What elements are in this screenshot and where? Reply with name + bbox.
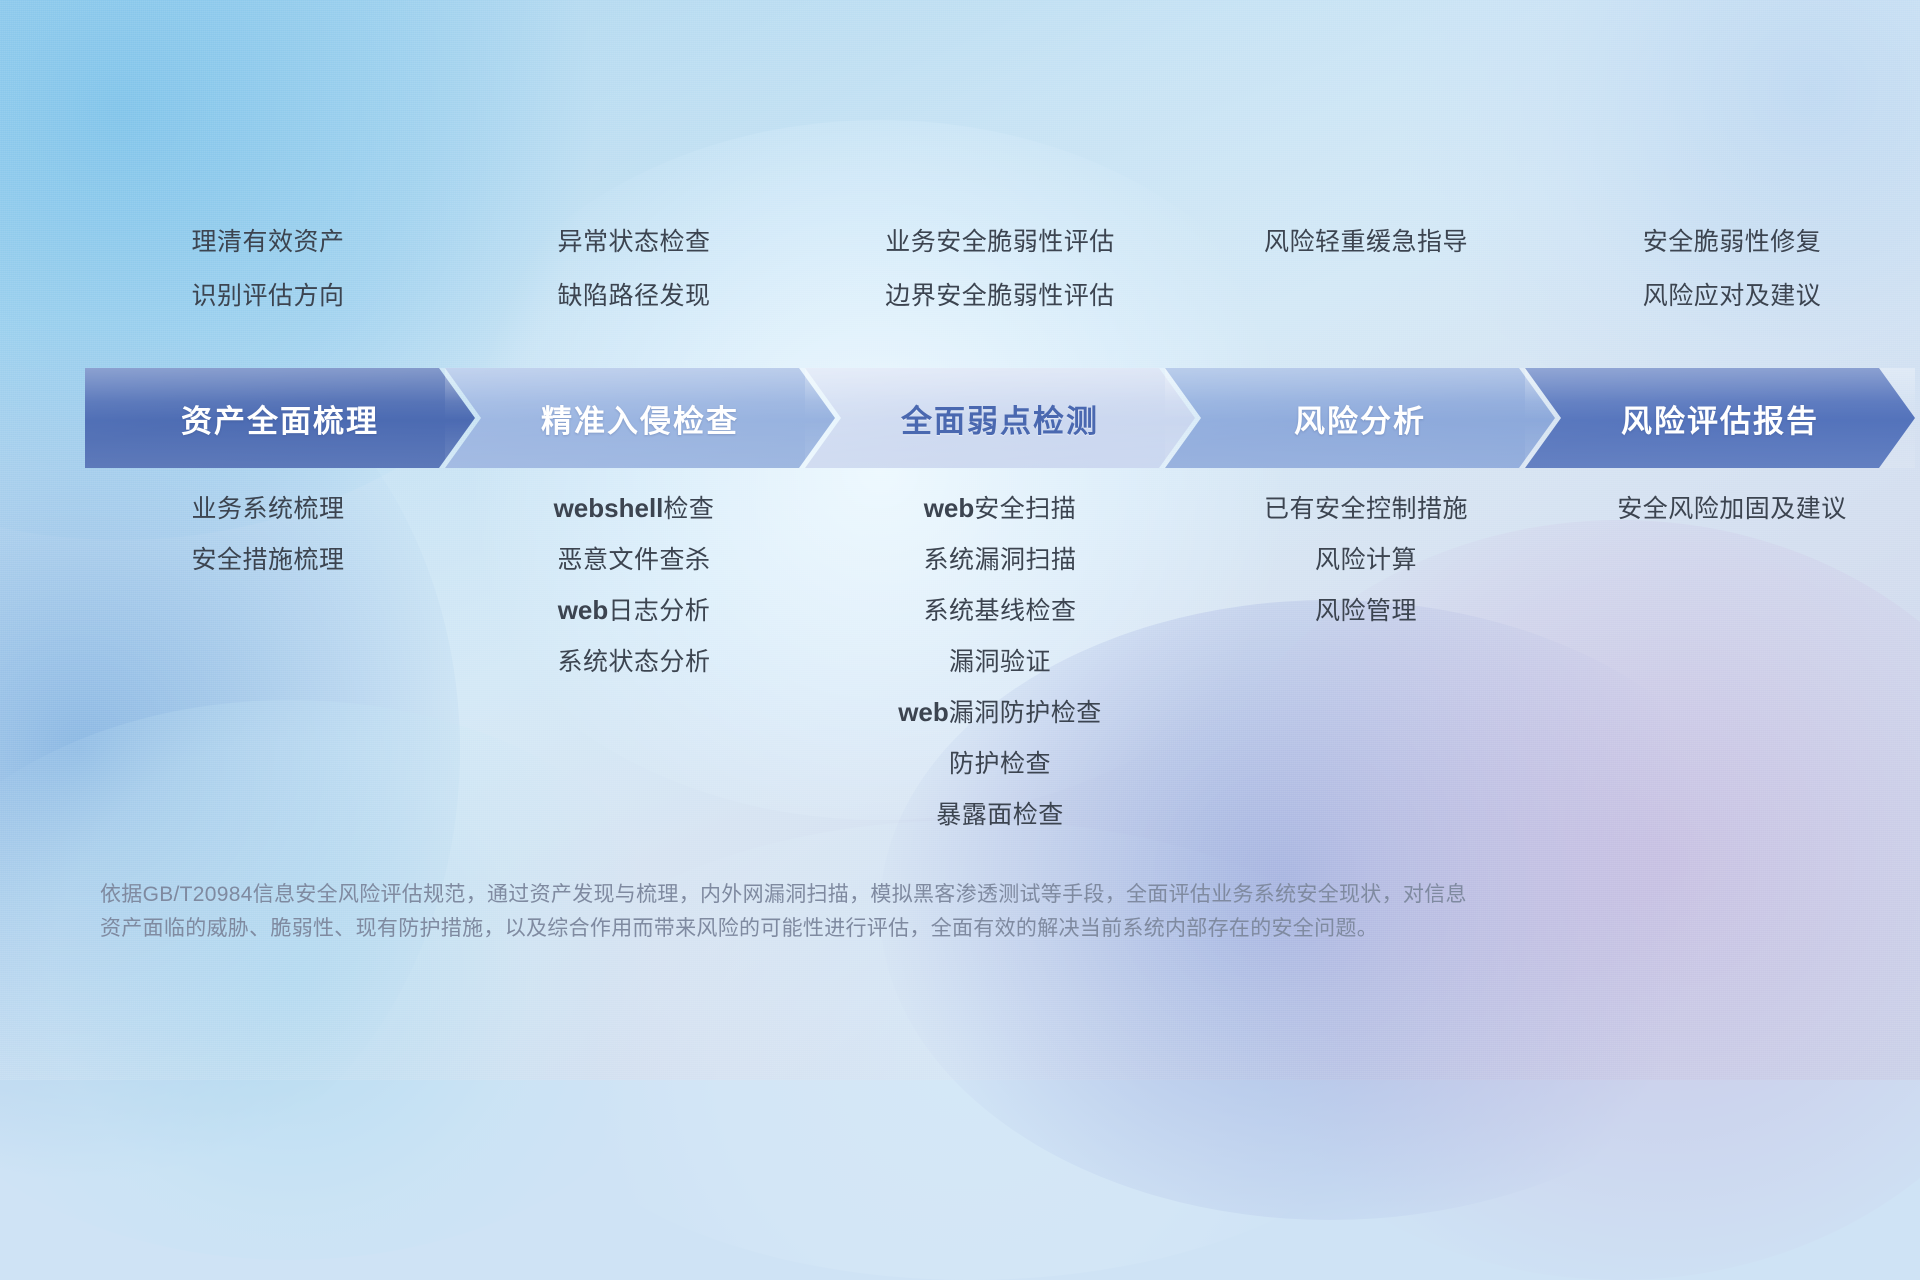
task-text: 漏洞防护检查 — [949, 699, 1102, 727]
output-label: 业务安全脆弱性评估 — [885, 230, 1115, 255]
task-text: 系统漏洞扫描 — [923, 546, 1076, 574]
chevron-stage-intrusion-check[interactable]: 精准入侵检查 — [445, 368, 835, 468]
task-item: 暴露面检查 — [936, 801, 1064, 828]
stage-tasks-asset-inventory: 业务系统梳理 安全措施梳理 — [85, 495, 451, 852]
chevron-label: 资产全面梳理 — [181, 396, 379, 441]
stage-outputs-intrusion-check: 异常状态检查 缺陷路径发现 — [451, 230, 817, 338]
task-text: 漏洞验证 — [949, 648, 1051, 676]
task-latin: web — [924, 493, 975, 523]
task-text: 恶意文件查杀 — [557, 546, 710, 574]
task-latin: webshell — [554, 493, 664, 523]
chevron-stage-asset-inventory[interactable]: 资产全面梳理 — [85, 368, 475, 468]
stage-outputs-risk-analysis: 风险轻重缓急指导 — [1183, 230, 1549, 338]
stage-tasks-intrusion-check: webshell检查 恶意文件查杀 web日志分析 系统状态分析 — [451, 495, 817, 852]
stage-outputs-weakness-detection: 业务安全脆弱性评估 边界安全脆弱性评估 — [817, 230, 1183, 338]
stage-tasks-row: 业务系统梳理 安全措施梳理 webshell检查 恶意文件查杀 web日志分析 … — [85, 495, 1915, 852]
task-item: web日志分析 — [558, 597, 711, 624]
task-text: 业务系统梳理 — [191, 495, 344, 523]
task-text: 检查 — [663, 495, 714, 523]
task-latin: web — [898, 697, 949, 727]
task-text: 安全风险加固及建议 — [1617, 495, 1847, 523]
task-item: 业务系统梳理 — [191, 495, 344, 522]
chevron-label: 风险分析 — [1294, 396, 1426, 441]
task-item: web漏洞防护检查 — [898, 699, 1102, 726]
task-text: 系统状态分析 — [557, 648, 710, 676]
task-text: 安全扫描 — [974, 495, 1076, 523]
task-item: 防护检查 — [949, 750, 1051, 777]
task-item: 恶意文件查杀 — [557, 546, 710, 573]
task-item: 漏洞验证 — [949, 648, 1051, 675]
chevron-label: 精准入侵检查 — [541, 396, 739, 441]
output-label: 安全脆弱性修复 — [1643, 230, 1822, 255]
chevron-stage-risk-analysis[interactable]: 风险分析 — [1165, 368, 1555, 468]
task-item: 系统漏洞扫描 — [923, 546, 1076, 573]
task-text: 系统基线检查 — [923, 597, 1076, 625]
footer-line-1: 依据GB/T20984信息安全风险评估规范，通过资产发现与梳理，内外网漏洞扫描，… — [100, 878, 1660, 912]
footer-description: 依据GB/T20984信息安全风险评估规范，通过资产发现与梳理，内外网漏洞扫描，… — [100, 878, 1660, 946]
output-label: 理清有效资产 — [191, 230, 344, 255]
stage-tasks-risk-analysis: 已有安全控制措施 风险计算 风险管理 — [1183, 495, 1549, 852]
task-item: 风险管理 — [1315, 597, 1417, 624]
task-item: 风险计算 — [1315, 546, 1417, 573]
task-text: 已有安全控制措施 — [1264, 495, 1468, 523]
task-text: 安全措施梳理 — [191, 546, 344, 574]
chevron-label: 全面弱点检测 — [901, 396, 1099, 441]
task-item: 安全措施梳理 — [191, 546, 344, 573]
task-item: web安全扫描 — [924, 495, 1077, 522]
task-text: 日志分析 — [608, 597, 710, 625]
chevron-stage-assessment-report[interactable]: 风险评估报告 — [1525, 368, 1915, 468]
chevron-stage-weakness-detection[interactable]: 全面弱点检测 — [805, 368, 1195, 468]
task-text: 风险计算 — [1315, 546, 1417, 574]
task-item: 系统基线检查 — [923, 597, 1076, 624]
stage-outputs-row: 理清有效资产 识别评估方向 异常状态检查 缺陷路径发现 业务安全脆弱性评估 边界… — [85, 230, 1915, 338]
process-diagram: 理清有效资产 识别评估方向 异常状态检查 缺陷路径发现 业务安全脆弱性评估 边界… — [0, 0, 1920, 1080]
stage-tasks-assessment-report: 安全风险加固及建议 — [1549, 495, 1915, 852]
output-label: 风险应对及建议 — [1643, 284, 1822, 309]
process-chevron-band: 资产全面梳理 精准入侵检查 全面弱点检测 风险分析 风险评估报告 — [85, 368, 1915, 468]
task-item: webshell检查 — [554, 495, 715, 522]
stage-tasks-weakness-detection: web安全扫描 系统漏洞扫描 系统基线检查 漏洞验证 web漏洞防护检查 防护检… — [817, 495, 1183, 852]
task-text: 防护检查 — [949, 750, 1051, 778]
task-text: 暴露面检查 — [936, 801, 1064, 829]
task-item: 安全风险加固及建议 — [1617, 495, 1847, 522]
task-latin: web — [558, 595, 609, 625]
output-label: 识别评估方向 — [191, 284, 344, 309]
output-label: 风险轻重缓急指导 — [1264, 230, 1468, 255]
task-item: 已有安全控制措施 — [1264, 495, 1468, 522]
footer-line-2: 资产面临的威胁、脆弱性、现有防护措施，以及综合作用而带来风险的可能性进行评估，全… — [100, 912, 1660, 946]
output-label: 边界安全脆弱性评估 — [885, 284, 1115, 309]
stage-outputs-assessment-report: 安全脆弱性修复 风险应对及建议 — [1549, 230, 1915, 338]
output-label: 异常状态检查 — [557, 230, 710, 255]
output-label: 缺陷路径发现 — [557, 284, 710, 309]
task-text: 风险管理 — [1315, 597, 1417, 625]
stage-outputs-asset-inventory: 理清有效资产 识别评估方向 — [85, 230, 451, 338]
chevron-label: 风险评估报告 — [1621, 396, 1819, 441]
task-item: 系统状态分析 — [557, 648, 710, 675]
